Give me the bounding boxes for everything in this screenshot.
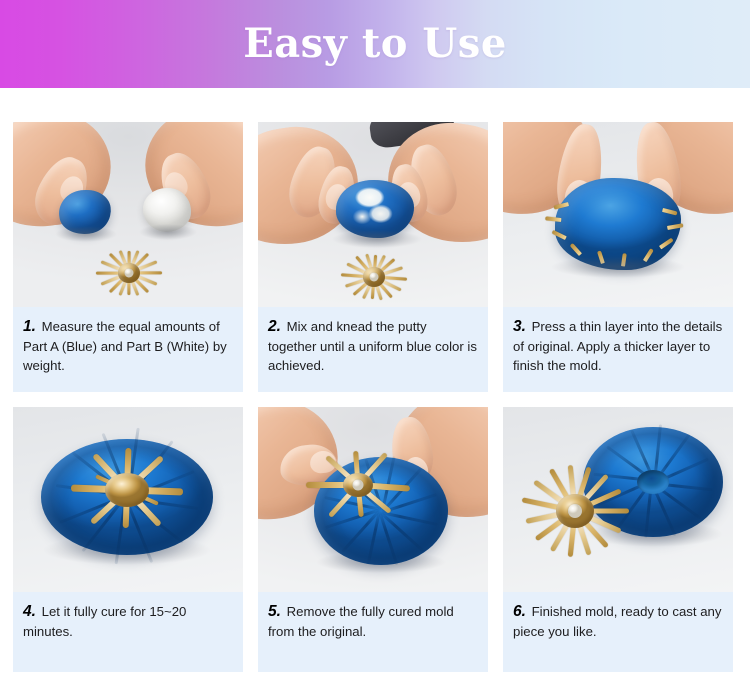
step-2-photo <box>258 122 488 307</box>
step-5-text: Remove the fully cured mold from the ori… <box>268 604 454 639</box>
step-card-1: 1. Measure the equal amounts of Part A (… <box>13 122 243 392</box>
step-4-photo <box>13 407 243 592</box>
step-card-2: 2. Mix and knead the putty together unti… <box>258 122 488 392</box>
step-3-text: Press a thin layer into the details of o… <box>513 319 722 373</box>
starburst-pearl <box>125 269 134 278</box>
step-1-photo <box>13 122 243 307</box>
step-4-number: 4. <box>23 603 38 620</box>
step-6-caption: 6. Finished mold, ready to cast any piec… <box>503 592 733 672</box>
step-2-text: Mix and knead the putty together until a… <box>268 319 477 373</box>
step-6-photo <box>503 407 733 592</box>
putty-shadow-left <box>55 226 117 242</box>
page-title: Easy to Use <box>243 24 507 64</box>
starburst-pearl <box>568 504 582 518</box>
gold-starburst-original <box>340 252 408 302</box>
step-5-caption: 5. Remove the fully cured mold from the … <box>258 592 488 672</box>
step-3-number: 3. <box>513 318 528 335</box>
putty-shadow <box>332 230 422 248</box>
step-2-number: 2. <box>268 318 283 335</box>
step-5-number: 5. <box>268 603 283 620</box>
step-card-3: 3. Press a thin layer into the details o… <box>503 122 733 392</box>
step-6-number: 6. <box>513 603 528 620</box>
white-putty-streaks <box>346 184 400 232</box>
starburst-pearl <box>370 273 379 282</box>
embedded-gold-starburst <box>75 455 179 525</box>
steps-grid: 1. Measure the equal amounts of Part A (… <box>0 88 750 672</box>
step-1-caption: 1. Measure the equal amounts of Part A (… <box>13 307 243 392</box>
step-1-number: 1. <box>23 318 38 335</box>
step-4-caption: 4. Let it fully cure for 15~20 minutes. <box>13 592 243 672</box>
gold-starburst-brooch <box>517 465 633 557</box>
step-2-caption: 2. Mix and knead the putty together unti… <box>258 307 488 392</box>
step-6-text: Finished mold, ready to cast any piece y… <box>513 604 721 639</box>
mold-shadow <box>551 256 685 278</box>
step-3-photo <box>503 122 733 307</box>
gold-starburst-original <box>95 248 163 298</box>
mold-center-cavity <box>637 470 669 494</box>
putty-shadow-right <box>139 224 197 240</box>
step-card-5: 5. Remove the fully cured mold from the … <box>258 407 488 672</box>
step-4-text: Let it fully cure for 15~20 minutes. <box>23 604 186 639</box>
step-3-caption: 3. Press a thin layer into the details o… <box>503 307 733 392</box>
step-5-photo <box>258 407 488 592</box>
gold-starburst-being-removed <box>306 455 410 515</box>
page-header-banner: Easy to Use <box>0 0 750 88</box>
starburst-pearl <box>353 480 364 491</box>
step-card-4: 4. Let it fully cure for 15~20 minutes. <box>13 407 243 672</box>
starburst-hub <box>105 473 149 507</box>
step-1-text: Measure the equal amounts of Part A (Blu… <box>23 319 227 373</box>
step-card-6: 6. Finished mold, ready to cast any piec… <box>503 407 733 672</box>
